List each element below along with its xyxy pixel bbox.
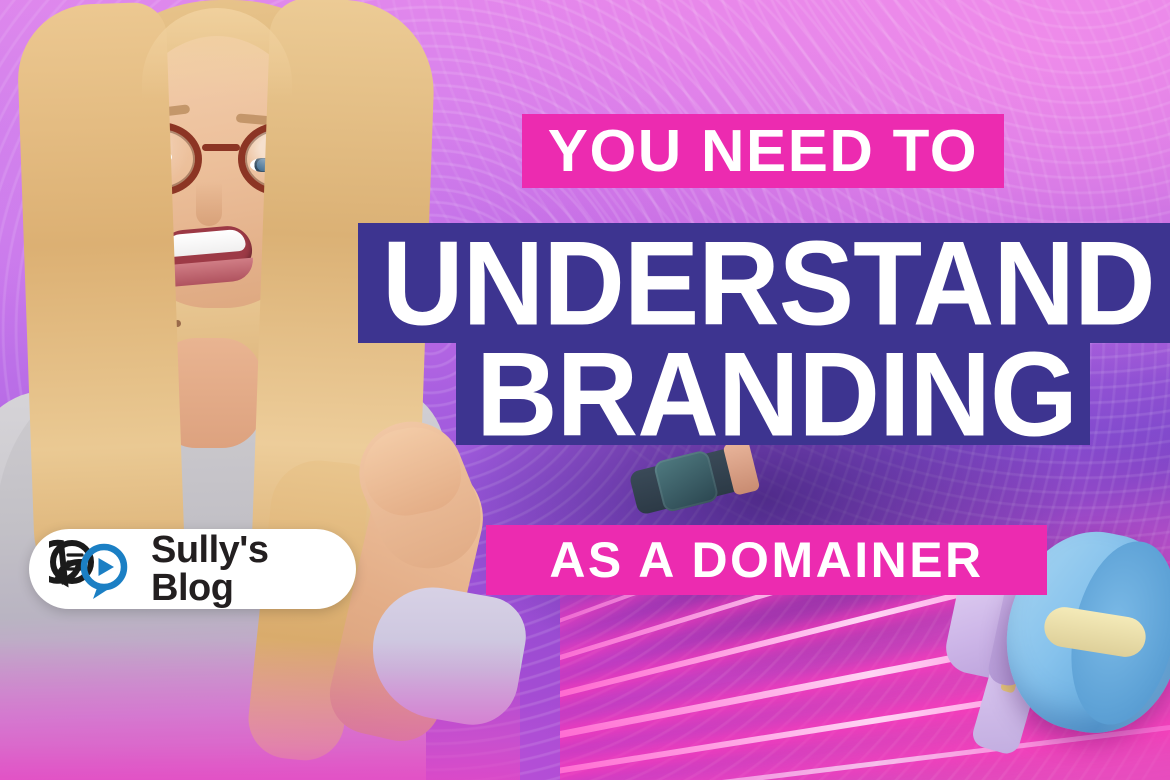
subhead-band: AS A DOMAINER — [486, 525, 1047, 595]
subhead-text: AS A DOMAINER — [549, 535, 983, 585]
glasses-bridge — [202, 144, 240, 151]
teeth — [164, 229, 246, 258]
headline-text-line1: UNDERSTAND — [382, 223, 1155, 343]
headline-band-line1: UNDERSTAND — [358, 223, 1170, 343]
woman-pointing-photo — [0, 0, 520, 780]
brand-logo-badge[interactable]: Sully's Blog — [29, 529, 356, 609]
chat-bubble-icons — [49, 538, 141, 600]
nose — [196, 182, 222, 226]
thumbnail-canvas: YOU NEED TO UNDERSTAND BRANDING AS A DOM… — [0, 0, 1170, 780]
eyebrow-band: YOU NEED TO — [522, 114, 1004, 188]
subject-bottom-fade — [0, 640, 520, 780]
logo-mark — [49, 538, 141, 600]
headline-band-line2: BRANDING — [456, 343, 1090, 445]
brand-name: Sully's Blog — [151, 531, 356, 607]
headline-text-line2: BRANDING — [476, 334, 1077, 454]
eyebrow-text: YOU NEED TO — [548, 122, 978, 181]
